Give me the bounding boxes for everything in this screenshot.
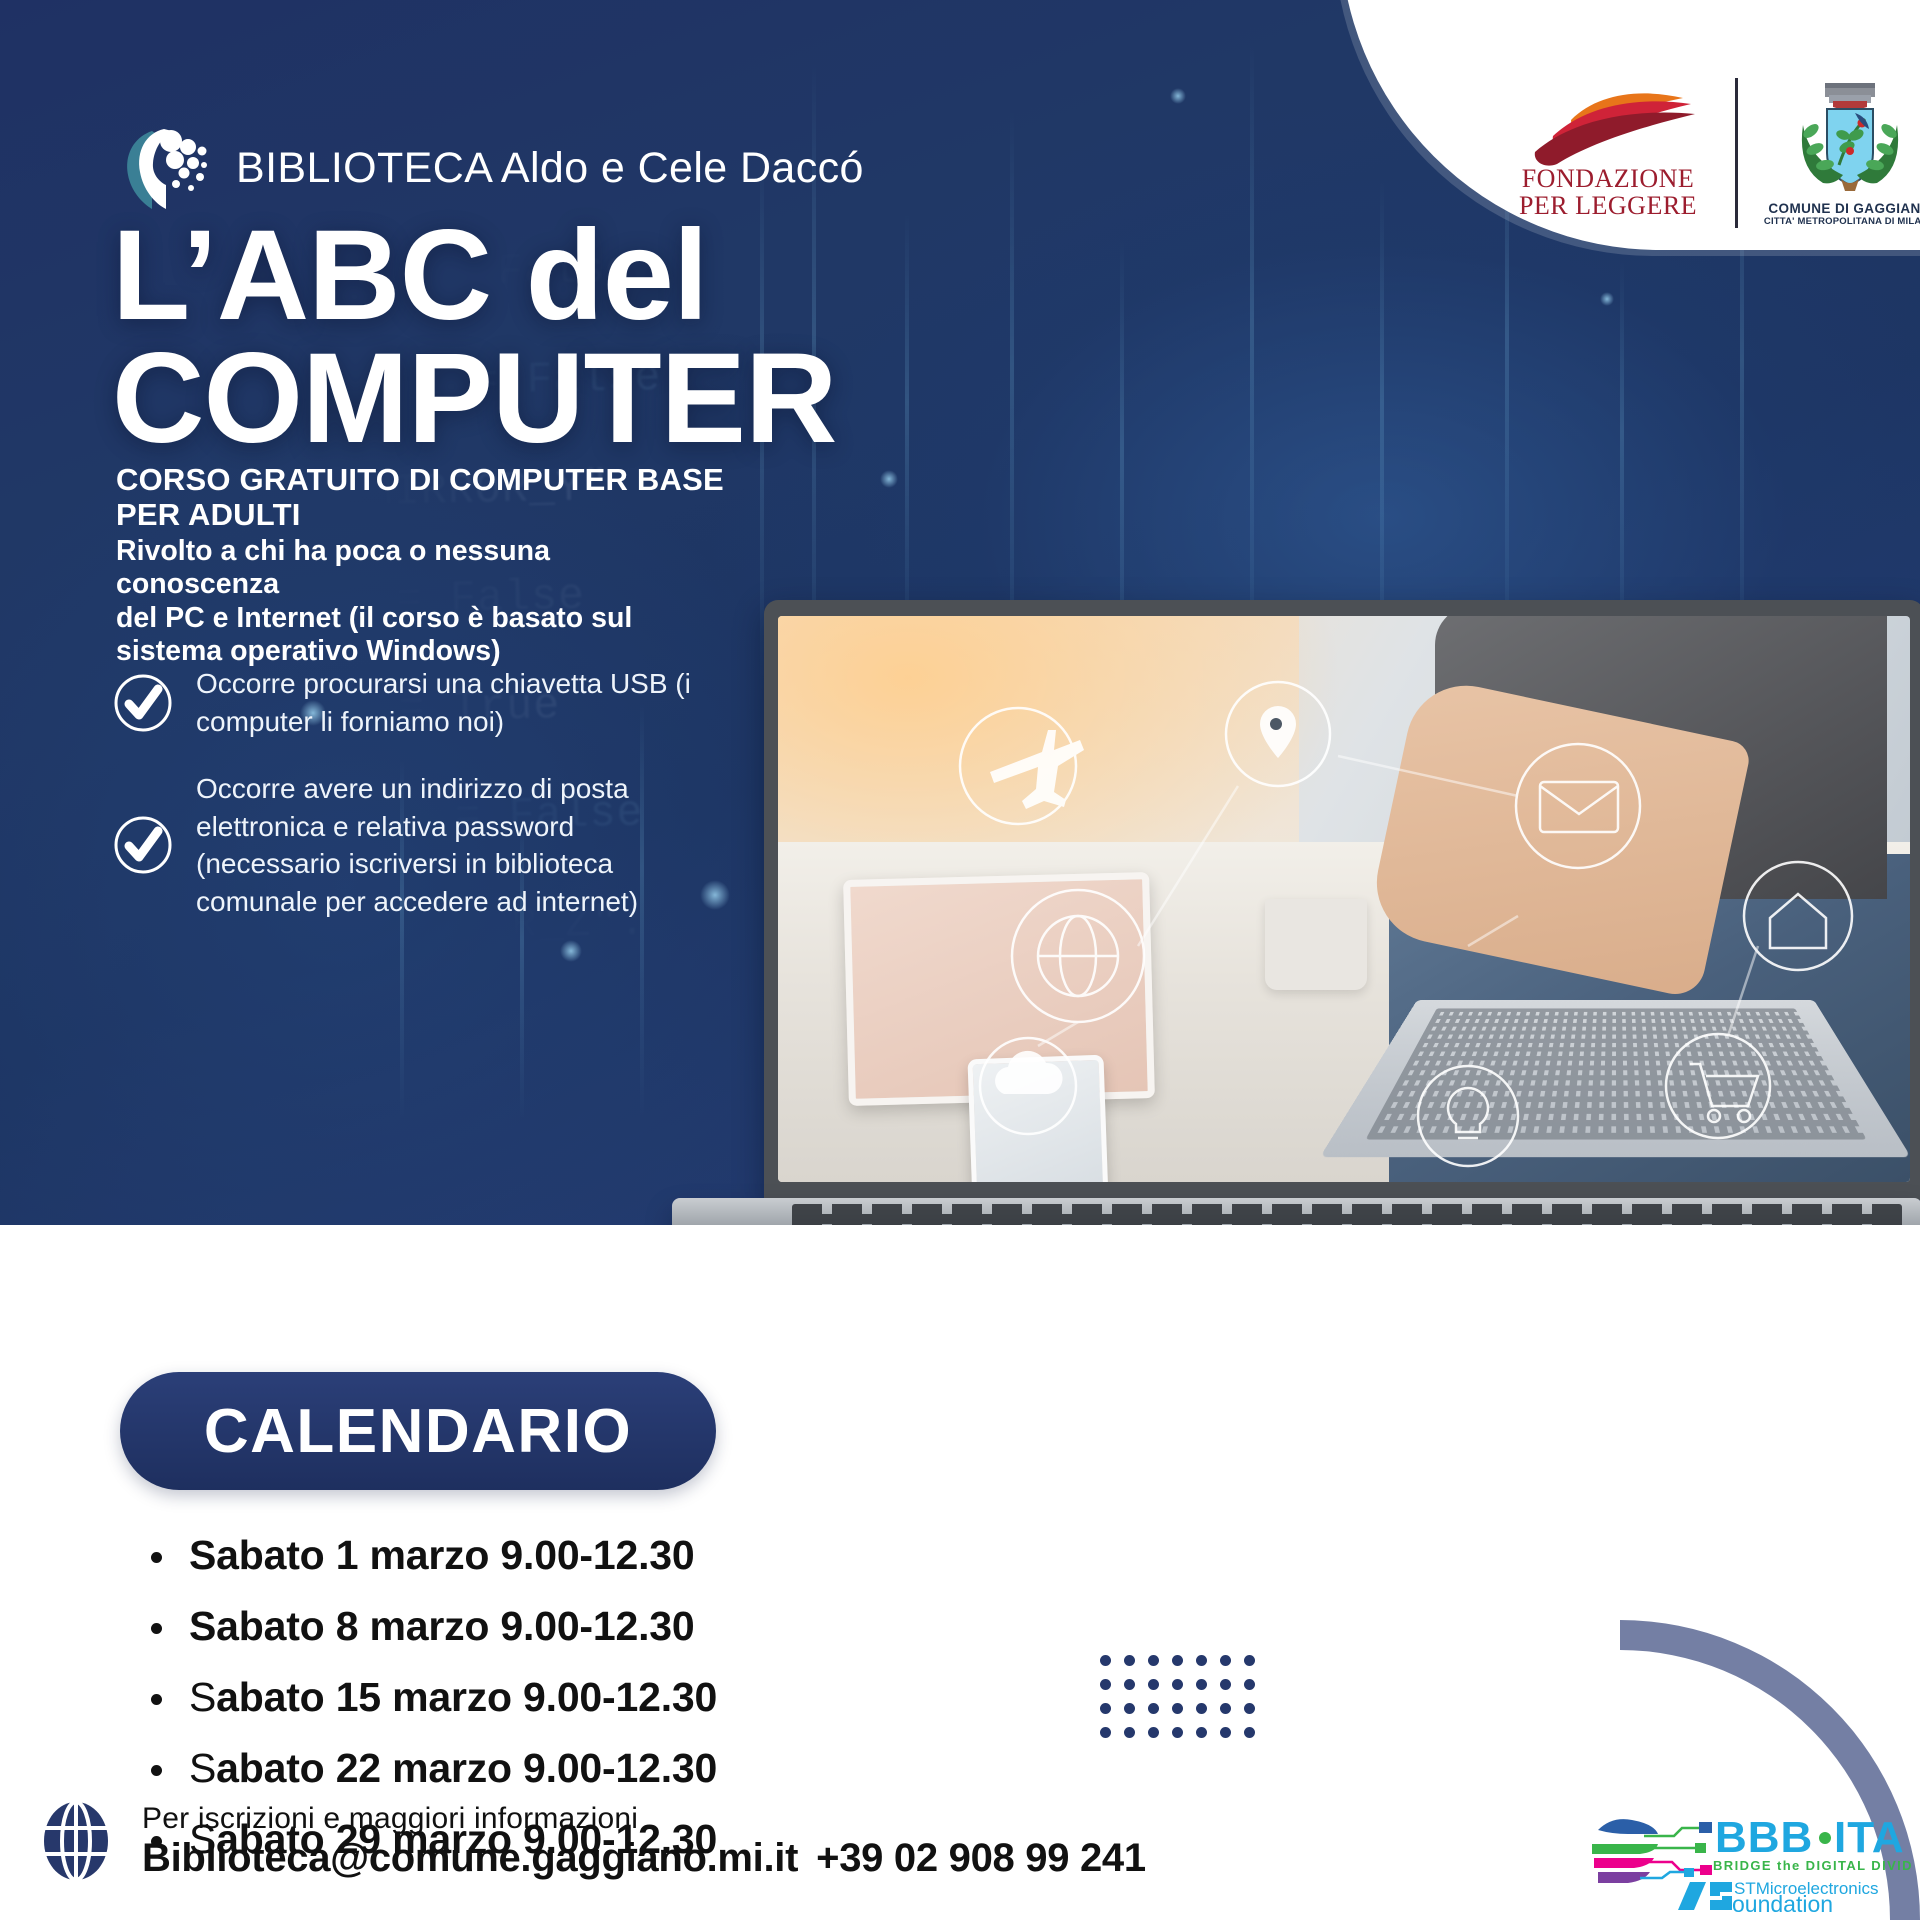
fondazione-label-line-1: FONDAZIONE — [1522, 166, 1695, 193]
course-lead-text: Rivolto a chi ha poca o nessuna conoscen… — [116, 535, 632, 668]
requirement-item: Occorre procurarsi una chiavetta USB (i … — [112, 665, 762, 740]
bbb-ita-wordmark: BBB — [1715, 1813, 1813, 1862]
list-item: Sabato 1 marzo 9.00-12.30 — [145, 1535, 717, 1576]
hero-panel: operation == "MIRROR_X": mirror_mod.use_… — [0, 0, 1920, 1230]
course-subtitle: CORSO GRATUITO DI COMPUTER BASE PER ADUL… — [116, 463, 724, 532]
lead-line-1: Rivolto a chi ha poca o nessuna — [116, 535, 632, 568]
bbb-tagline: BRIDGE the DIGITAL DIVIDE - ITALIA — [1713, 1858, 1912, 1873]
swoosh-logo-icon — [1513, 86, 1703, 166]
check-circle-icon — [112, 672, 174, 734]
library-name: BIBLIOTECA Aldo e Cele Daccó — [236, 144, 864, 193]
check-circle-icon — [112, 814, 174, 876]
circuit-brain-icon — [1592, 1819, 1712, 1883]
date-text: abato 15 marzo 9.00-12.30 — [216, 1674, 717, 1720]
date-text: abato 1 marzo 9.00-12.30 — [216, 1532, 694, 1578]
title-line-1: L’ABC del — [112, 215, 836, 338]
list-item: Sabato 15 marzo 9.00-12.30 — [145, 1677, 717, 1718]
requirement-text: Occorre avere un indirizzo di posta elet… — [196, 770, 638, 920]
requirement-1-line-2: computer li forniamo noi) — [196, 706, 504, 737]
date-text: abato 22 marzo 9.00-12.30 — [216, 1745, 717, 1791]
date-text: abato 8 marzo 9.00-12.30 — [216, 1603, 694, 1649]
requirement-item: Occorre avere un indirizzo di posta elet… — [112, 770, 762, 920]
footer-email[interactable]: Biblioteca@comune.gaggiano.mi.it — [142, 1836, 798, 1880]
lead-line-4: sistema operativo Windows) — [116, 635, 632, 668]
comune-label: COMUNE DI GAGGIANO — [1768, 201, 1920, 216]
footer-contact: Per iscrizioni e maggiori informazioni B… — [36, 1800, 1146, 1882]
fondazione-per-leggere-logo: FONDAZIONE PER LEGGERE — [1503, 86, 1713, 219]
foundation-label: oundation — [1732, 1891, 1833, 1914]
page-title: L’ABC del COMPUTER — [112, 215, 836, 461]
comune-di-gaggiano-logo: COMUNE DI GAGGIANO CITTA' METROPOLITANA … — [1760, 79, 1920, 227]
title-line-2: COMPUTER — [112, 338, 836, 461]
library-header: BIBLIOTECA Aldo e Cele Daccó — [118, 125, 864, 211]
st-foundation-mark — [1678, 1882, 1732, 1910]
phone-in-photo — [968, 1055, 1109, 1182]
requirement-2-line-1: Occorre avere un indirizzo di posta — [196, 773, 629, 804]
gaggiano-coat-of-arms-icon — [1789, 79, 1911, 197]
dot-grid-decoration — [1100, 1655, 1268, 1751]
date-lead-char: S — [189, 1674, 216, 1720]
date-lead-char: S — [189, 1745, 216, 1791]
laptop-photo — [672, 600, 1920, 1230]
lead-line-2: conoscenza — [116, 568, 632, 601]
requirement-2-line-4: comunale per accedere ad internet) — [196, 886, 638, 917]
library-face-dots-logo-icon — [118, 125, 210, 211]
laptop-screen-image — [778, 616, 1910, 1182]
requirement-1-line-1: Occorre procurarsi una chiavetta USB (i — [196, 668, 691, 699]
list-item: Sabato 22 marzo 9.00-12.30 — [145, 1748, 717, 1789]
poster-root: operation == "MIRROR_X": mirror_mod.use_… — [0, 0, 1920, 1920]
fondazione-label-line-2: PER LEGGERE — [1519, 193, 1697, 220]
subtitle-line-1: CORSO GRATUITO DI COMPUTER BASE — [116, 463, 724, 498]
partner-logo-badge: FONDAZIONE PER LEGGERE — [1340, 0, 1920, 250]
date-lead-char: S — [189, 1603, 216, 1649]
globe-icon — [36, 1800, 116, 1882]
laptop-screen-frame — [764, 600, 1920, 1200]
footer-phone[interactable]: +39 02 908 99 241 — [816, 1836, 1146, 1880]
bbb-ita-sponsor-logo: BBB ITA BRIDGE the DIGITAL DIVIDE - ITAL… — [1582, 1796, 1912, 1914]
footer-info-label: Per iscrizioni e maggiori informazioni — [142, 1802, 1146, 1836]
cup-in-photo — [1265, 899, 1367, 990]
requirement-2-line-3: (necessario iscriversi in biblioteca — [196, 848, 613, 879]
calendar-badge-label: CALENDARIO — [204, 1396, 632, 1467]
date-lead-char: S — [189, 1532, 216, 1578]
svg-text:ITA: ITA — [1834, 1813, 1905, 1862]
requirements-list: Occorre procurarsi una chiavetta USB (i … — [112, 665, 762, 950]
requirement-2-line-2: elettronica e relativa password — [196, 811, 574, 842]
subtitle-line-2: PER ADULTI — [116, 498, 724, 533]
citta-metropolitana-label: CITTA' METROPOLITANA DI MILANO — [1764, 216, 1920, 227]
logo-divider — [1735, 78, 1738, 228]
list-item: Sabato 8 marzo 9.00-12.30 — [145, 1606, 717, 1647]
footer-contact-line: Biblioteca@comune.gaggiano.mi.it+39 02 9… — [142, 1836, 1146, 1881]
lead-line-3: del PC e Internet (il corso è basato sul — [116, 602, 632, 635]
requirement-text: Occorre procurarsi una chiavetta USB (i … — [196, 665, 691, 740]
calendar-badge: CALENDARIO — [120, 1372, 716, 1490]
